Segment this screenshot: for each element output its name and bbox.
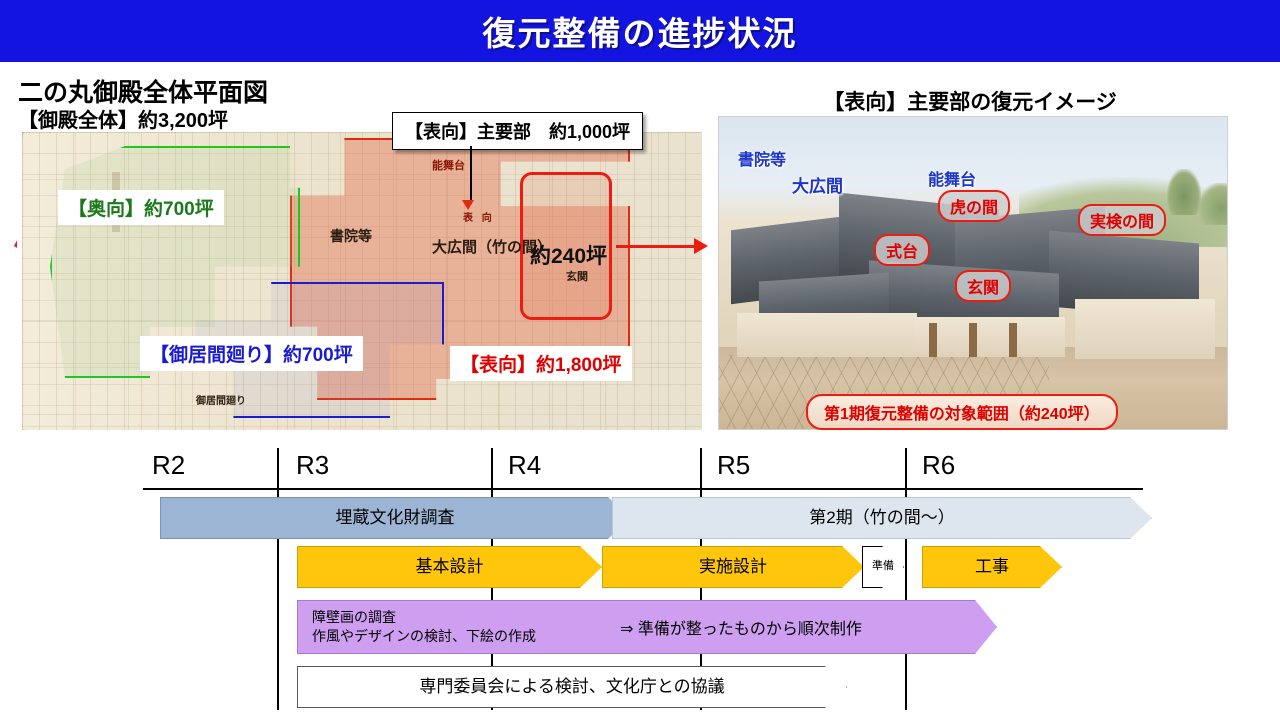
rendering-heading: 【表向】主要部の復元イメージ xyxy=(700,86,1240,116)
render-label-shoin: 書院等 xyxy=(738,146,786,170)
render-label-nobutai: 能舞台 xyxy=(928,166,976,190)
callout-omote-main-area: 【表向】主要部 約1,000坪 xyxy=(392,112,643,150)
timeline-bar-label: 第2期（竹の間～） xyxy=(613,507,1151,528)
timeline-year-r6: R6 xyxy=(922,450,955,481)
timeline-bar-junbi: 準備 xyxy=(862,546,904,588)
connector-arrow-icon xyxy=(694,238,708,254)
timeline-bar-label: 専門委員会による検討、文化庁との協議 xyxy=(298,676,846,697)
timeline-bar-jisshi-sekkei: 実施設計 xyxy=(602,546,864,588)
timeline-year-r2: R2 xyxy=(152,450,185,481)
render-label-ohiroma: 大広間 xyxy=(792,172,843,197)
plan-label-omotemuki: 表 向 xyxy=(463,209,495,224)
timeline-bar-phase2: 第2期（竹の間～） xyxy=(612,497,1152,539)
render-label-jikken-no-ma: 実検の間 xyxy=(1078,204,1166,236)
background-tree-icon xyxy=(1167,169,1201,215)
background-tree-icon xyxy=(1199,183,1228,225)
timeline-bar-label-right: ⇒ 準備が整ったものから順次制作 xyxy=(620,615,862,639)
timeline-bar-label-left: 障壁画の調査 作風やデザインの検討、下絵の作成 xyxy=(312,608,536,646)
building-pillar xyxy=(969,323,977,357)
render-label-tora-no-ma: 虎の間 xyxy=(938,190,1010,222)
plan-label-gokoma-inner: 御居間廻り xyxy=(196,392,246,407)
schedule-timeline: R2 R3 R4 R5 R6 埋蔵文化財調査 第2期（竹の間～） 基本設計 実施… xyxy=(0,440,1280,720)
timeline-bar-label: 実施設計 xyxy=(603,556,863,577)
timeline-year-r3: R3 xyxy=(296,450,329,481)
timeline-divider xyxy=(905,448,907,710)
callout-omote-area: 【表向】約1,800坪 xyxy=(450,346,632,381)
callout-leader-line xyxy=(470,146,472,204)
floor-plan-subheading: 【御殿全体】約3,200坪 xyxy=(18,104,228,133)
plan-label-nobutai: 能舞台 xyxy=(432,157,465,173)
timeline-bar-label: 基本設計 xyxy=(298,556,601,577)
timeline-bar-kihon-sekkei: 基本設計 xyxy=(297,546,602,588)
timeline-year-r5: R5 xyxy=(717,450,750,481)
render-label-genkan: 玄関 xyxy=(955,270,1011,302)
callout-gokoma-area: 【御居間廻り】約700坪 xyxy=(140,336,363,371)
timeline-axis xyxy=(143,488,1143,490)
timeline-divider xyxy=(277,448,279,710)
timeline-bar-shohekiga: 障壁画の調査 作風やデザインの検討、下絵の作成 ⇒ 準備が整ったものから順次制作 xyxy=(297,600,997,654)
timeline-bar-label: 埋蔵文化財調査 xyxy=(161,507,629,528)
building-wall xyxy=(915,317,1065,357)
phase1-scope-caption: 第1期復元整備の対象範囲（約240坪） xyxy=(806,394,1118,430)
timeline-bar-label: 準備 xyxy=(863,560,903,574)
timeline-bar-label: 工事 xyxy=(923,556,1061,577)
page-title: 復元整備の進捗状況 xyxy=(483,7,798,55)
building-wall xyxy=(737,313,917,357)
render-label-shikidai: 式台 xyxy=(874,234,930,266)
timeline-bar-maizo-bunkazai: 埋蔵文化財調査 xyxy=(160,497,630,539)
connector-line xyxy=(616,245,700,248)
title-banner: 復元整備の進捗状況 xyxy=(0,0,1280,62)
timeline-bar-senmon-iinkai: 専門委員会による検討、文化庁との協議 xyxy=(297,666,847,708)
timeline-year-r4: R4 xyxy=(508,450,541,481)
slide-root: 復元整備の進捗状況 二の丸御殿全体平面図 【御殿全体】約3,200坪 書院等 大… xyxy=(0,0,1280,720)
building-wall xyxy=(1075,299,1215,359)
timeline-bar-koji: 工事 xyxy=(922,546,1062,588)
callout-leader-arrow-icon xyxy=(462,200,474,210)
building-pillar xyxy=(929,323,937,357)
plan-label-area-240: 約240坪 xyxy=(530,240,607,270)
plan-label-genkan: 玄関 xyxy=(566,268,588,284)
building-pillar xyxy=(1009,323,1017,357)
